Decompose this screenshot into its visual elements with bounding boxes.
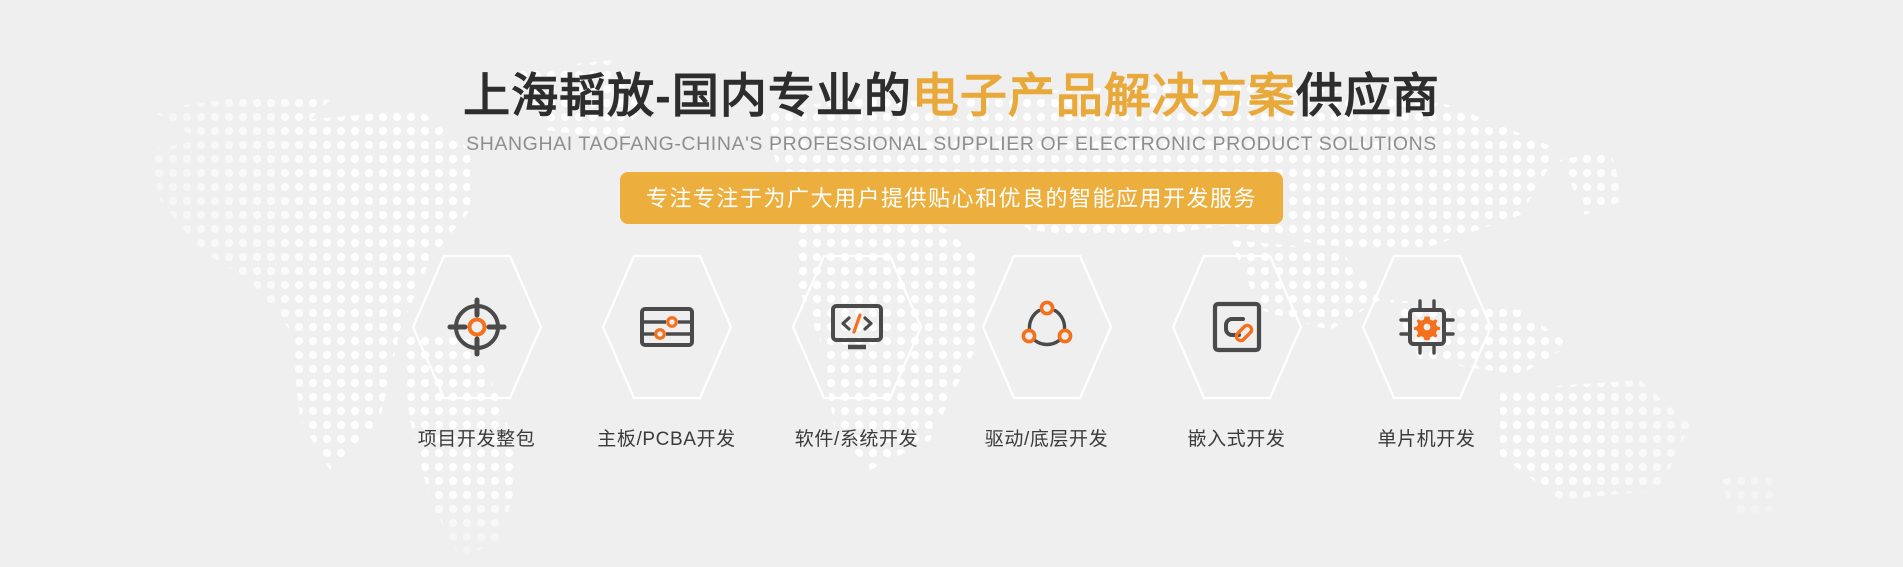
hexagon-frame bbox=[601, 252, 733, 402]
hexagon-frame bbox=[1171, 252, 1303, 402]
page-title: 上海韬放-国内专业的电子产品解决方案供应商 bbox=[463, 68, 1440, 123]
monitor-code-icon bbox=[825, 295, 889, 359]
banner-content: 上海韬放-国内专业的电子产品解决方案供应商 SHANGHAI TAOFANG-C… bbox=[0, 0, 1903, 567]
service-list: 项目开发整包 bbox=[382, 252, 1522, 451]
headline-tail: 供应商 bbox=[1296, 69, 1440, 122]
service-item-embedded[interactable]: 嵌入式开发 bbox=[1142, 252, 1332, 451]
service-label: 主板/PCBA开发 bbox=[597, 424, 735, 451]
service-label: 嵌入式开发 bbox=[1187, 424, 1285, 451]
tagline-badge: 专注专注于为广大用户提供贴心和优良的智能应用开发服务 bbox=[620, 172, 1283, 224]
headline-accent: 电子产品解决方案 bbox=[912, 69, 1296, 122]
crosshair-target-icon bbox=[445, 295, 509, 359]
hero-banner: 上海韬放-国内专业的电子产品解决方案供应商 SHANGHAI TAOFANG-C… bbox=[0, 0, 1903, 567]
page-subtitle: SHANGHAI TAOFANG-CHINA'S PROFESSIONAL SU… bbox=[466, 133, 1437, 156]
hexagon-frame bbox=[791, 252, 923, 402]
headline-lead: 上海韬放-国内专业的 bbox=[463, 69, 912, 122]
service-label: 单片机开发 bbox=[1377, 424, 1475, 451]
service-label: 软件/系统开发 bbox=[795, 424, 918, 451]
service-label: 项目开发整包 bbox=[418, 424, 536, 451]
network-nodes-icon bbox=[1015, 295, 1079, 359]
service-item-project-package[interactable]: 项目开发整包 bbox=[382, 252, 572, 451]
hexagon-frame bbox=[411, 252, 543, 402]
hexagon-frame bbox=[981, 252, 1113, 402]
service-item-software-system[interactable]: 软件/系统开发 bbox=[762, 252, 952, 451]
service-label: 驱动/底层开发 bbox=[985, 424, 1108, 451]
microchip-gear-icon bbox=[1395, 295, 1459, 359]
tagline-container: 专注专注于为广大用户提供贴心和优良的智能应用开发服务 bbox=[620, 172, 1283, 224]
circuit-board-icon bbox=[635, 295, 699, 359]
service-item-driver-lowlevel[interactable]: 驱动/底层开发 bbox=[952, 252, 1142, 451]
embedded-link-icon bbox=[1205, 295, 1269, 359]
service-item-mcu[interactable]: 单片机开发 bbox=[1332, 252, 1522, 451]
hexagon-frame bbox=[1361, 252, 1493, 402]
service-item-pcba[interactable]: 主板/PCBA开发 bbox=[572, 252, 762, 451]
